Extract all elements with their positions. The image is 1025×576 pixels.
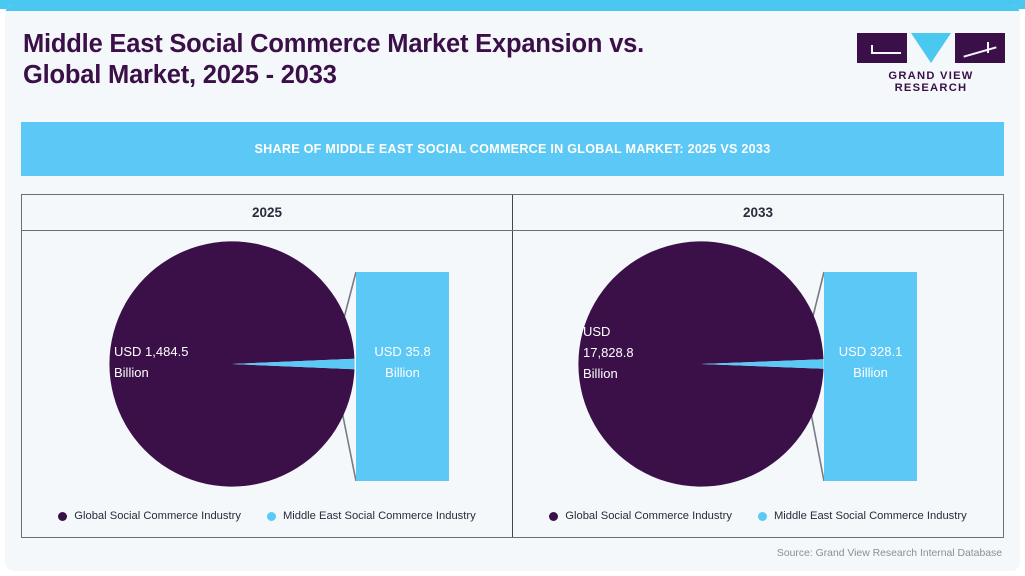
table-body-row: USD 1,484.5Billion USD 35.8Billion Globa… (22, 231, 1003, 537)
legend-label-middle-east: Middle East Social Commerce Industry (283, 510, 476, 522)
legend-label-middle-east: Middle East Social Commerce Industry (774, 510, 967, 522)
legend-item-middle-east-2025: Middle East Social Commerce Industry (267, 510, 476, 522)
legend-dot-global-icon (58, 512, 67, 521)
legend-label-global: Global Social Commerce Industry (565, 510, 732, 522)
legend-label-global: Global Social Commerce Industry (74, 510, 241, 522)
logo-right-square-icon (955, 33, 1005, 63)
chart-svg-2025: USD 1,484.5Billion USD 35.8Billion (22, 231, 513, 499)
logo-wordmark: GRAND VIEW RESEARCH (857, 70, 1005, 94)
legend-item-global-2033: Global Social Commerce Industry (549, 510, 732, 522)
card-top-accent (5, 5, 1020, 11)
infographic-frame: Middle East Social Commerce Market Expan… (0, 0, 1025, 576)
section-banner-label: SHARE OF MIDDLE EAST SOCIAL COMMERCE IN … (255, 142, 771, 156)
logo-triangle-icon (911, 33, 951, 63)
chart-cell-2025: USD 1,484.5Billion USD 35.8Billion Globa… (22, 231, 512, 537)
pie-of-bar-chart-2025: USD 1,484.5Billion USD 35.8Billion (22, 231, 512, 499)
pie-of-bar-chart-2033: USD17,828.8Billion USD 328.1Billion (513, 231, 1003, 499)
page-title: Middle East Social Commerce Market Expan… (23, 29, 823, 91)
legend-dot-middle-east-icon (267, 512, 276, 521)
comparison-table: 2025 2033 (21, 194, 1004, 538)
legend-item-global-2025: Global Social Commerce Industry (58, 510, 241, 522)
column-header-2025: 2025 (22, 195, 512, 230)
legend-dot-middle-east-icon (758, 512, 767, 521)
legend-2033: Global Social Commerce Industry Middle E… (513, 503, 1003, 529)
table-header-row: 2025 2033 (22, 195, 1003, 231)
chart-svg-2033: USD17,828.8Billion USD 328.1Billion (513, 231, 1004, 499)
logo-left-square-icon (857, 33, 907, 63)
grand-view-research-logo: GRAND VIEW RESEARCH (857, 33, 1005, 85)
legend-item-middle-east-2033: Middle East Social Commerce Industry (758, 510, 967, 522)
section-banner: SHARE OF MIDDLE EAST SOCIAL COMMERCE IN … (21, 122, 1004, 176)
logo-marks (857, 33, 1005, 66)
legend-dot-global-icon (549, 512, 558, 521)
content-card: Middle East Social Commerce Market Expan… (5, 5, 1020, 571)
source-note: Source: Grand View Research Internal Dat… (777, 548, 1002, 559)
chart-cell-2033: USD17,828.8Billion USD 328.1Billion Glob… (512, 231, 1003, 537)
column-header-2033: 2033 (512, 195, 1003, 230)
legend-2025: Global Social Commerce Industry Middle E… (22, 503, 512, 529)
